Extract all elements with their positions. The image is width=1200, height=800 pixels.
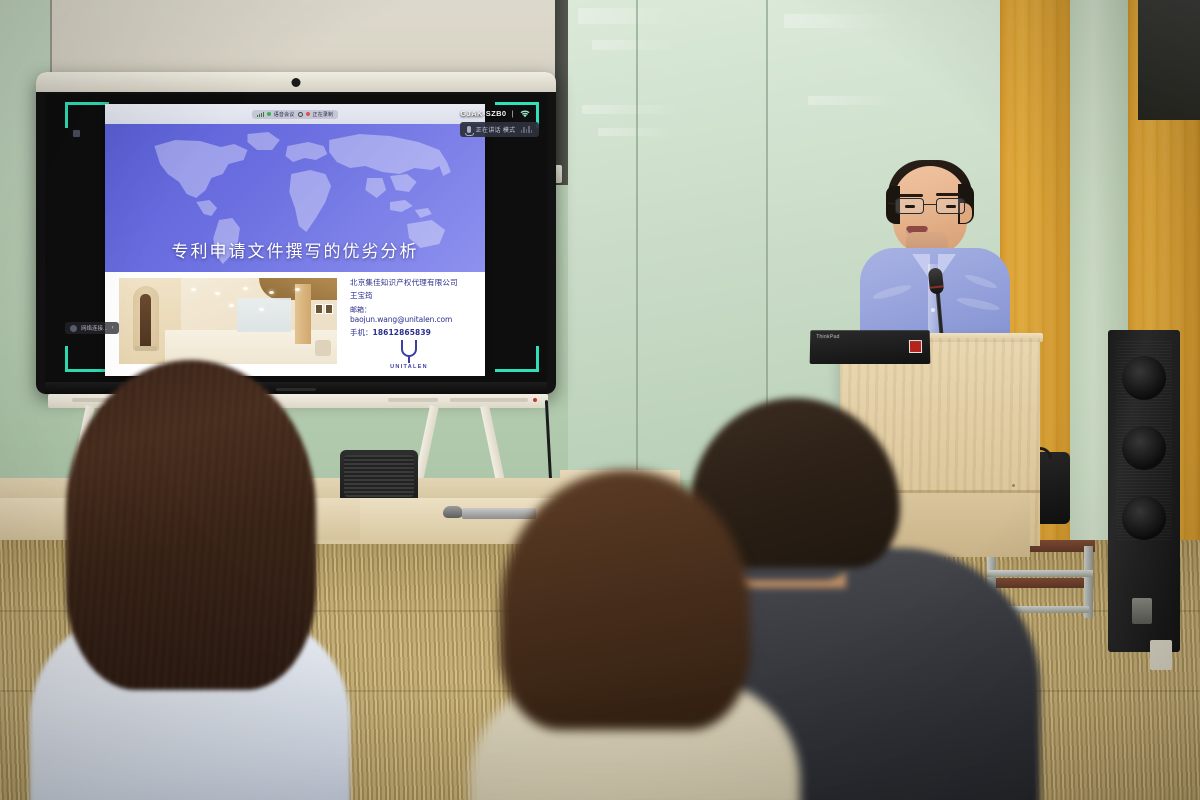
wall-socket	[1150, 640, 1172, 670]
logo-u-mark-icon	[401, 340, 417, 357]
contact-block: 北京集佳知识产权代理有限公司 王宝筠 邮箱： baojun.wang@unita…	[350, 278, 478, 339]
attendee-hair	[500, 470, 750, 730]
contact-email: baojun.wang@unitalen.com	[350, 315, 478, 326]
unitalen-logo: UNITALEN	[373, 340, 445, 370]
corner-marker-top-left-icon	[65, 102, 109, 128]
status-left-text: 语音会议	[274, 111, 295, 118]
contact-company: 北京集佳知识产权代理有限公司	[350, 278, 478, 289]
network-status-overlay: GJAK-SZB0 |	[460, 108, 531, 118]
status-right-text: 正在录制	[313, 111, 334, 118]
laptop-badge-icon	[909, 340, 922, 353]
screen-marker-icon	[73, 130, 80, 137]
lobby-photo	[119, 278, 337, 364]
webcam-icon	[292, 78, 301, 87]
logo-wordmark: UNITALEN	[373, 364, 445, 370]
microphone-icon	[467, 126, 471, 133]
ceiling-shadow	[1138, 0, 1200, 120]
glass-seam	[636, 0, 638, 470]
tv-display[interactable]: 语音会议 正在录制	[36, 72, 556, 394]
info-circle-icon	[298, 112, 303, 117]
status-orb-icon	[70, 325, 77, 332]
statue-figure	[140, 294, 151, 348]
network-name: GJAK-SZB0	[460, 109, 506, 118]
recording-dot-icon	[267, 112, 271, 116]
laptop-brand-label: ThinkPad	[816, 334, 840, 340]
audio-waveform-icon	[521, 126, 533, 133]
presenter-brow-left	[899, 194, 923, 197]
tower-speaker	[1108, 330, 1180, 652]
tv-screen-area[interactable]: 语音会议 正在录制	[45, 94, 547, 382]
computer-mouse[interactable]	[443, 506, 463, 518]
attendee-center-brown-hair	[480, 470, 780, 800]
presenter-brow-right	[936, 193, 960, 196]
record-indicator-icon	[306, 112, 310, 116]
overlay-separator: |	[512, 109, 515, 118]
speaker-badge	[1132, 598, 1152, 624]
mesh-office-chair[interactable]	[340, 450, 418, 502]
corner-marker-bottom-right-icon	[495, 346, 539, 372]
slide-title: 专利申请文件撰写的优劣分析	[105, 237, 485, 262]
slide-hero-banner: 专利申请文件撰写的优劣分析	[105, 124, 485, 272]
mic-status-text: 正在讲话 模式	[476, 125, 516, 134]
glasses-icon	[894, 198, 968, 214]
mic-status-overlay[interactable]: 正在讲话 模式	[460, 122, 539, 137]
microphone-icon	[928, 267, 945, 294]
contact-phone-line: 手机：18612865839	[350, 328, 478, 339]
contact-name: 王宝筠	[350, 291, 478, 302]
slide-status-bar: 语音会议 正在录制	[105, 104, 485, 124]
conference-room-scene: 语音会议 正在录制	[0, 0, 1200, 800]
chevron-left-icon: ‹	[112, 325, 114, 331]
laptop[interactable]: ThinkPad	[810, 330, 931, 364]
left-status-overlay[interactable]: 网络连接... ‹	[65, 322, 119, 334]
contact-phone: 18612865839	[373, 328, 432, 337]
attendee-hair	[66, 360, 316, 690]
logo-u-stem-icon	[408, 356, 410, 363]
signal-bars-icon	[257, 112, 264, 117]
status-pill: 语音会议 正在录制	[252, 110, 339, 119]
presentation-slide[interactable]: 语音会议 正在录制	[105, 104, 485, 376]
left-overlay-label: 网络连接...	[81, 324, 108, 332]
attendee-woman-white-shirt	[30, 360, 350, 800]
wifi-icon	[519, 108, 531, 118]
contact-phone-label: 手机：	[350, 328, 373, 337]
contact-email-label: 邮箱：	[350, 305, 478, 315]
